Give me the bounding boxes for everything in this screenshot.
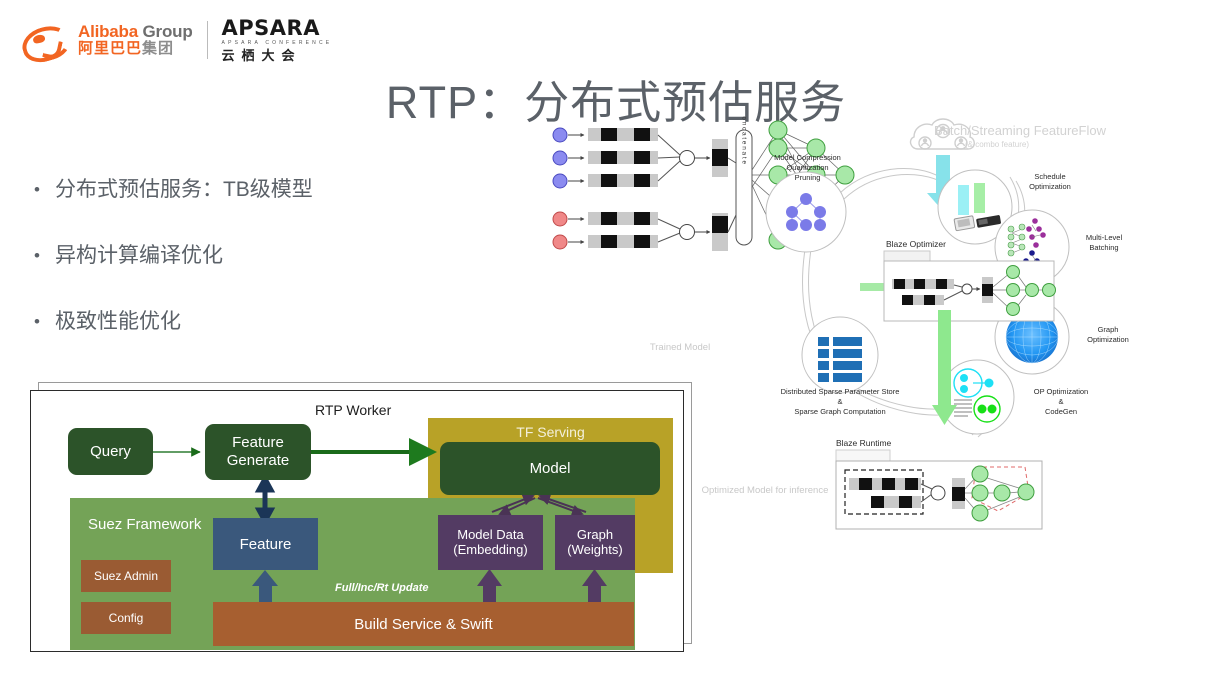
list-item: • 异构计算编译优化	[34, 242, 464, 270]
feature-box: Feature	[213, 518, 318, 570]
suez-framework-label: Suez Framework	[88, 516, 201, 533]
suez-admin-box: Suez Admin	[81, 560, 171, 592]
feature-generate-label: Feature Generate	[227, 434, 290, 470]
query-label: Query	[90, 443, 131, 460]
bullet-text: 分布式预估服务：TB级模型	[55, 176, 313, 204]
config-label: Config	[109, 611, 144, 625]
update-note-label: Full/Inc/Rt Update	[335, 582, 429, 594]
op-optimization-circle	[940, 360, 1014, 434]
model-data-box: Model Data (Embedding)	[438, 515, 543, 570]
build-service-box: Build Service & Swift	[213, 602, 634, 646]
model-data-label: Model Data (Embedding)	[453, 528, 527, 558]
trained-model-label: Trained Model	[620, 342, 740, 353]
alibaba-cn-name: 阿里巴巴	[78, 40, 142, 57]
config-box: Config	[81, 602, 171, 634]
alibaba-mark-icon	[22, 23, 64, 57]
op-optimization-label: OP Optimization & CodeGen	[1006, 387, 1116, 416]
model-compression-label: Model Compression Quantization Pruning	[745, 153, 870, 182]
sparse-parameter-store-circle	[802, 317, 878, 393]
blaze-optimizer-label: Blaze Optimizer	[886, 239, 946, 249]
model-compression-circle	[766, 172, 846, 252]
apsara-chinese: 云栖大会	[222, 49, 333, 62]
multi-level-batching-label: Multi-Level Batching	[1064, 233, 1144, 253]
blaze-runtime-label: Blaze Runtime	[836, 438, 891, 448]
batch-streaming-sub-label: (& combo feature)	[965, 140, 1029, 149]
alibaba-cn-group: 集团	[142, 40, 174, 57]
alibaba-wordmark: Alibaba Group 阿里巴巴集团	[78, 23, 193, 57]
schedule-optimization-label: Schedule Optimization	[1010, 172, 1090, 192]
build-service-label: Build Service & Swift	[354, 616, 492, 633]
list-item: • 极致性能优化	[34, 308, 464, 336]
list-item: • 分布式预估服务：TB级模型	[34, 176, 464, 204]
apsara-title: APSARA	[222, 18, 333, 39]
apsara-subtitle: APSARA CONFERENCE	[222, 41, 333, 46]
rtp-worker-label: RTP Worker	[315, 402, 391, 418]
blaze-runtime-box	[836, 450, 1042, 529]
suez-admin-label: Suez Admin	[94, 569, 158, 583]
alibaba-name: Alibaba	[78, 22, 138, 41]
bullet-marker-icon: •	[34, 176, 40, 204]
sparse-store-label: Distributed Sparse Parameter Store & Spa…	[730, 387, 950, 416]
blaze-optimizer-box	[884, 251, 1056, 321]
feature-generate-box: Feature Generate	[205, 424, 311, 480]
bullet-text: 异构计算编译优化	[55, 242, 223, 270]
batch-streaming-label: Batch/Streaming FeatureFlow	[934, 123, 1106, 138]
bullet-marker-icon: •	[34, 308, 40, 336]
optimized-model-label: Optimized Model for inference	[685, 485, 845, 496]
bullet-marker-icon: •	[34, 242, 40, 270]
brand-logo-bar: Alibaba Group 阿里巴巴集团 APSARA APSARA CONFE…	[22, 18, 332, 62]
apsara-wordmark: APSARA APSARA CONFERENCE 云栖大会	[222, 18, 333, 62]
logo-divider	[207, 21, 208, 59]
bullet-text: 极致性能优化	[55, 308, 181, 336]
alibaba-group: Group	[138, 22, 193, 41]
feature-label: Feature	[240, 536, 292, 553]
blaze-flow-diagram: C o n c a t e n a t e	[540, 115, 1232, 545]
query-box: Query	[68, 428, 153, 475]
bullet-list: • 分布式预估服务：TB级模型 • 异构计算编译优化 • 极致性能优化	[34, 176, 464, 374]
slide-root: Alibaba Group 阿里巴巴集团 APSARA APSARA CONFE…	[0, 0, 1232, 689]
graph-optimization-label: Graph Optimization	[1068, 325, 1148, 345]
